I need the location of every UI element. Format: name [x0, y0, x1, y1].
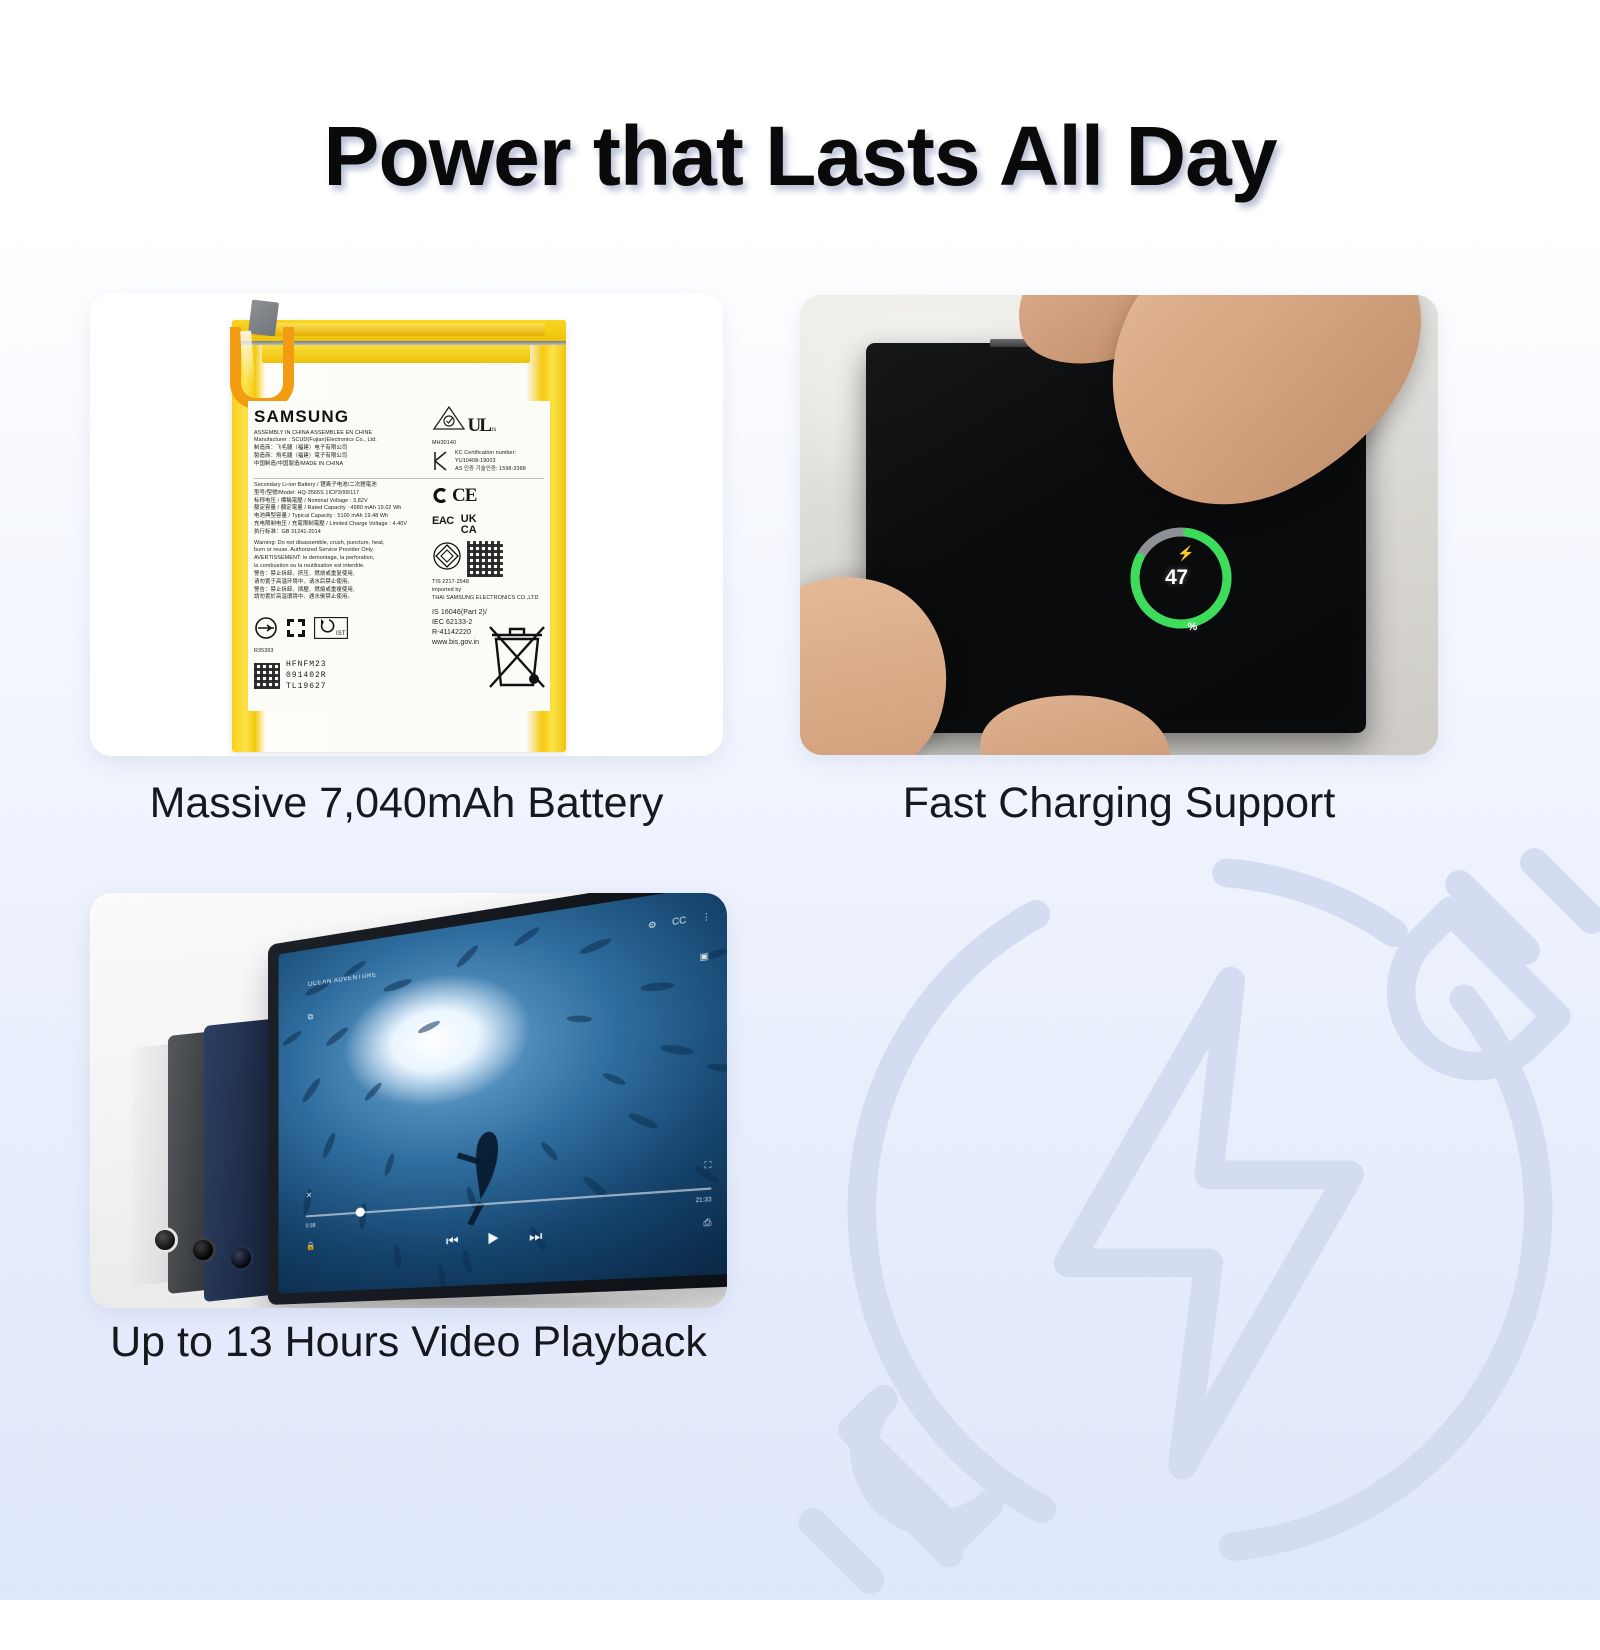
video-more-options-icon[interactable]: ⋮ — [701, 911, 711, 923]
charging-percent-symbol: % — [1188, 621, 1197, 638]
video-screen: OCEAN ADVENTURE ⧉ ⚙ CC ⋮ ▣ ✕ ⛶ 0:38 21:3… — [279, 893, 727, 1294]
battery-serial-3: TL19627 — [286, 682, 327, 693]
battery-cn-line-2: 製造商：飛毛腿（福建）電子有限公司 — [254, 453, 428, 461]
ul-mark: UL — [468, 415, 490, 436]
tis-diamond-icon — [432, 541, 462, 571]
battery-warning-en-1: Warning: Do not disassemble, crush, punc… — [254, 540, 428, 548]
video-popup-view-icon[interactable]: ⧉ — [308, 1012, 314, 1023]
camera-lens-navy-icon — [228, 1245, 254, 1271]
battery-warning-en-2: burn or reuse. Authorized Service Provid… — [254, 547, 428, 555]
ukca-line-2: CA — [461, 525, 477, 535]
video-title: OCEAN ADVENTURE — [308, 972, 377, 988]
tablet-lineup-photo: OCEAN ADVENTURE ⧉ ⚙ CC ⋮ ▣ ✕ ⛶ 0:38 21:3… — [90, 893, 727, 1308]
battery-serial-2: 091402R — [286, 671, 327, 682]
video-time-total: 21:33 — [696, 1197, 712, 1205]
video-progress-knob[interactable] — [356, 1207, 365, 1217]
video-settings-icon[interactable]: ⚙ — [648, 919, 657, 930]
ce-mark: CE — [452, 482, 476, 510]
battery-warning-cn-1: 警告：禁止拆卸、挤压、燃烧或重复使用, — [254, 571, 428, 579]
label-divider-1 — [254, 478, 544, 479]
charging-indicator: ⚡ 47% — [1121, 518, 1241, 638]
battery-model: 型号/型號/Model: HQ-3565S 1ICP3/99/117 — [254, 490, 428, 498]
battery-flex-cable — [230, 327, 294, 409]
battery-cn-line-1: 制造商：飞毛腿（福建）电子有限公司 — [254, 445, 428, 453]
ist-recycle-icon: IST — [314, 617, 348, 639]
camera-lens-silver-icon — [152, 1227, 178, 1253]
charging-percent-value: 47 — [1165, 566, 1187, 590]
label-qr-code — [467, 541, 503, 577]
do-not-dispose-icon — [254, 616, 278, 640]
battery-assembly: ASSEMBLY IN CHINA ASSEMBLEE EN CHINE — [254, 430, 428, 438]
importer-name: THAI SAMSUNG ELECTRONICS CO.,LTD — [432, 595, 544, 603]
battery-brand: SAMSUNG — [254, 405, 428, 430]
ul-file-number: MH30140 — [432, 440, 544, 448]
battery-connector — [218, 301, 313, 411]
camera-lens-graphite-icon — [190, 1237, 216, 1263]
caption-charging: Fast Charging Support — [800, 779, 1438, 828]
charging-percent: 47% — [1121, 518, 1241, 638]
kc-number: YU10408-19003 — [455, 458, 526, 466]
battery-warning-fr-2: la combustion ou la reutilisation est in… — [254, 563, 428, 571]
tablet-front-playing: OCEAN ADVENTURE ⧉ ⚙ CC ⋮ ▣ ✕ ⛶ 0:38 21:3… — [268, 893, 727, 1305]
battery-cn-line-3: 中国制造/中国製造/MADE IN CHINA — [254, 461, 428, 469]
weee-bin-icon — [488, 623, 546, 689]
eac-mark: EAC — [432, 514, 454, 530]
china-ccc-icon — [432, 488, 447, 503]
tis-number: TIS 2217-2548 — [432, 579, 544, 587]
importer-label: imported by — [432, 587, 544, 595]
charging-photo: ⚡ 47% — [800, 295, 1438, 755]
recycle-square-icon — [285, 617, 307, 639]
video-time-elapsed: 0:38 — [306, 1223, 316, 1230]
battery-serial-1: HFNFM23 — [286, 660, 327, 671]
battery-warning-cn-2: 请勿置于高温环境中、请水后禁止使用。 — [254, 579, 428, 587]
serial-qr-code — [254, 663, 280, 689]
feature-card-video: OCEAN ADVENTURE ⧉ ⚙ CC ⋮ ▣ ✕ ⛶ 0:38 21:3… — [90, 893, 727, 1308]
ul-us-suffix: us — [490, 427, 497, 433]
feature-card-charging: ⚡ 47% — [800, 295, 1438, 755]
battery-rated-capacity: 额定容量 / 額定電量 / Rated Capacity : 4980 mAh … — [254, 505, 428, 513]
battery-standard: 执行标准：GB 31241-2014 — [254, 529, 428, 537]
video-mute-icon[interactable]: ✕ — [306, 1191, 313, 1201]
video-player-overlay: OCEAN ADVENTURE ⧉ ⚙ CC ⋮ ▣ ✕ ⛶ 0:38 21:3… — [279, 893, 727, 1294]
battery-warning-cn-4: 請勿置於高溫環境中、遇水後禁止使用。 — [254, 594, 428, 602]
page-title: Power that Lasts All Day — [0, 108, 1600, 205]
video-picture-in-picture-icon[interactable]: ▣ — [699, 951, 709, 963]
kc-as-number: AS 인증 기술인증: 1598-3388 — [455, 466, 526, 474]
video-aspect-ratio-icon[interactable]: ⛶ — [704, 1160, 711, 1172]
caption-video: Up to 13 Hours Video Playback — [90, 1318, 727, 1367]
feature-card-battery: SAMSUNG ASSEMBLY IN CHINA ASSEMBLEE EN C… — [90, 293, 723, 756]
caption-battery: Massive 7,040mAh Battery — [90, 779, 723, 828]
video-subtitles-icon[interactable]: CC — [672, 915, 686, 927]
battery-type: Secondary Li-ion Battery / 锂离子电池/二次鋰電池 — [254, 482, 428, 490]
video-progress-bar[interactable] — [306, 1187, 712, 1217]
video-transport-controls[interactable]: ⏮▶⏭ — [279, 1215, 727, 1259]
kc-mark-icon — [432, 450, 452, 472]
battery-photo: SAMSUNG ASSEMBLY IN CHINA ASSEMBLEE EN C… — [90, 293, 723, 756]
power-plug-watermark-icon — [760, 770, 1600, 1650]
rcm-tick-mark-icon — [432, 405, 466, 431]
bis-standard-line-1: IS 16046(Part 2)/ — [432, 608, 544, 618]
battery-warning-fr-1: AVERTISSEMENT: le demontage, la perforat… — [254, 555, 428, 563]
kc-title: KC Certification number: — [455, 450, 526, 458]
battery-typical-capacity: 电池典型容量 / Typical Capacity : 5100 mAh 19.… — [254, 513, 428, 521]
svg-text:IST: IST — [336, 631, 346, 637]
battery-charge-voltage: 充电限制电压 / 充電限制電壓 / Limited Charge Voltage… — [254, 521, 428, 529]
